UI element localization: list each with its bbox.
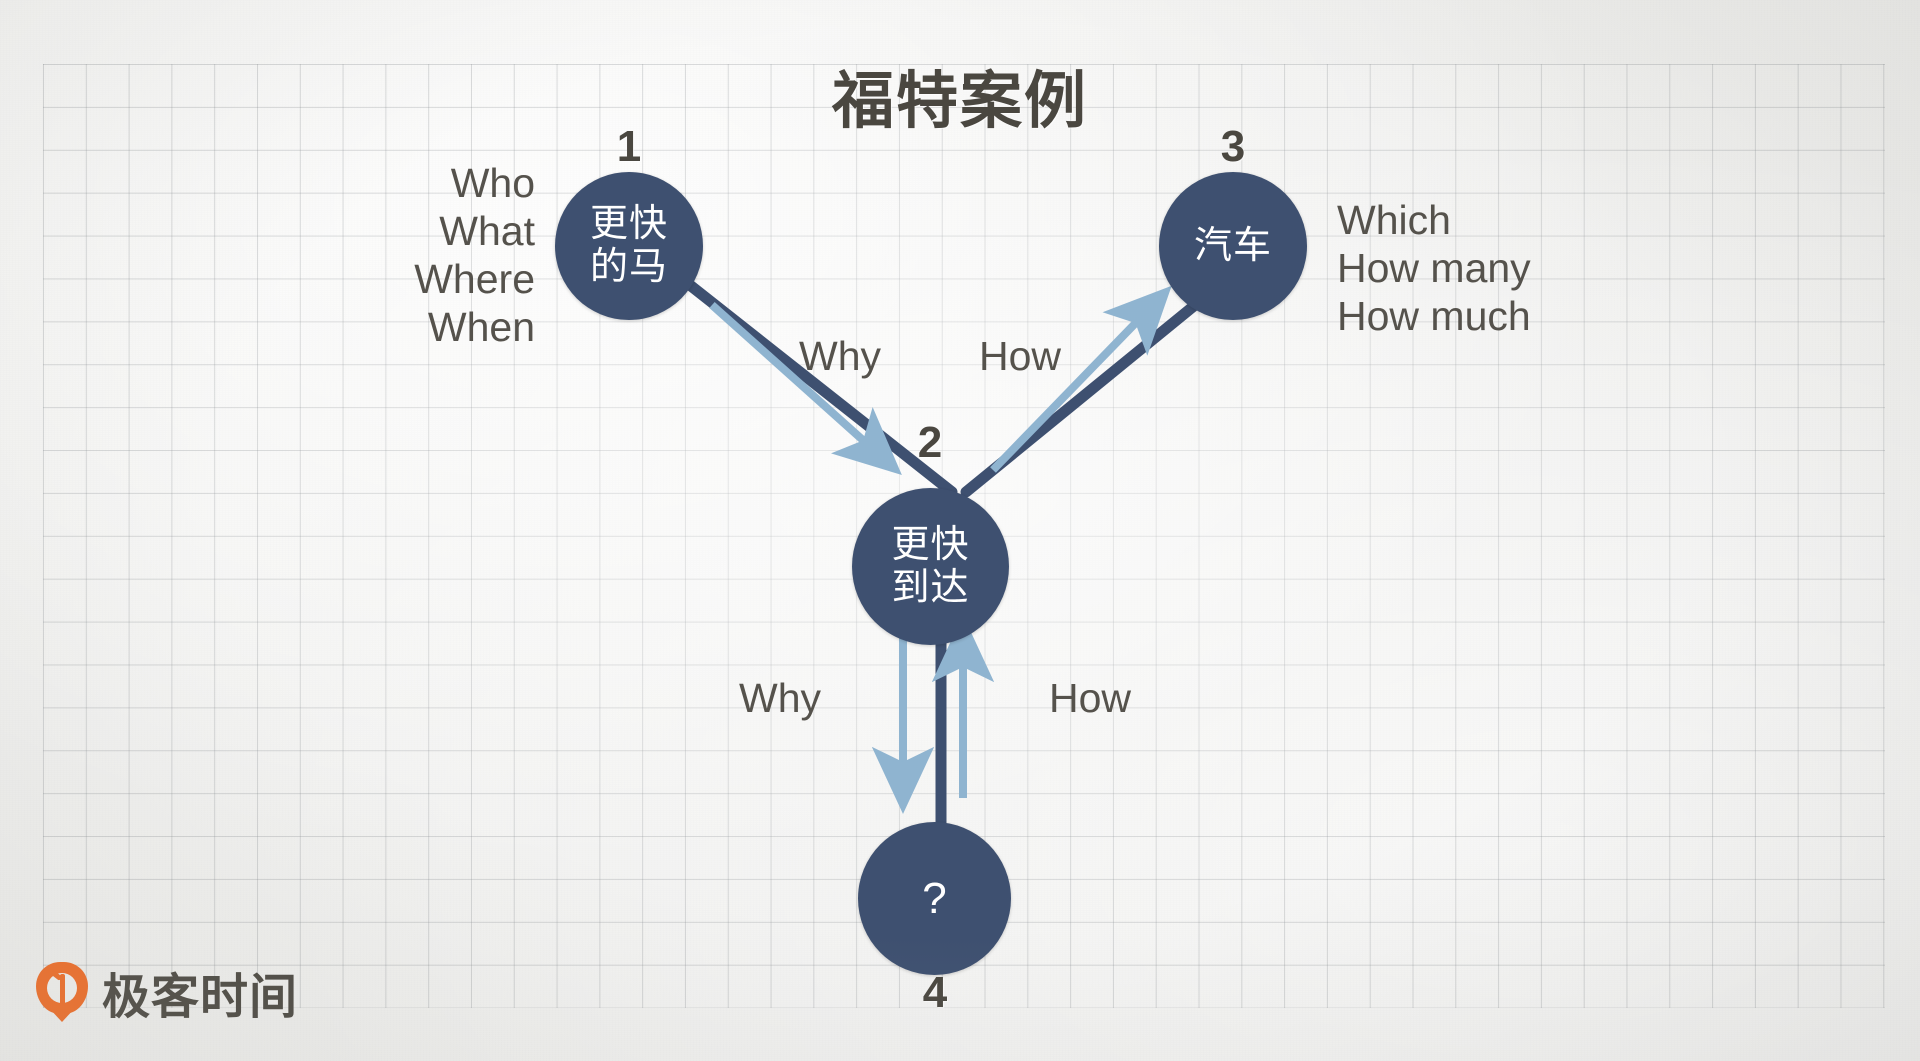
edge-label-how-top: How — [930, 333, 1110, 380]
brand-name: 极客时间 — [102, 957, 298, 1027]
geektime-drop-icon — [36, 962, 88, 1022]
left-question-words: Who What Where When — [230, 160, 535, 352]
edge-label-how-bottom: How — [1000, 675, 1180, 722]
node-1-number: 1 — [600, 122, 658, 172]
node-3[interactable]: 汽车 — [1159, 172, 1307, 320]
node-4[interactable]: ? — [858, 822, 1011, 975]
node-2[interactable]: 更快 到达 — [852, 488, 1009, 645]
node-4-label: ? — [922, 874, 946, 923]
edge-label-why-top: Why — [750, 333, 930, 380]
arrow-how-top — [993, 303, 1155, 470]
node-2-label-line2: 到达 — [891, 567, 969, 610]
node-2-number: 2 — [901, 418, 959, 468]
node-1[interactable]: 更快 的马 — [555, 172, 703, 320]
node-1-label-line2: 的马 — [590, 246, 668, 289]
arrow-why-top — [712, 305, 884, 459]
edge-label-why-bottom: Why — [690, 675, 870, 722]
node-2-label: 更快 到达 — [891, 524, 969, 609]
node-4-number: 4 — [906, 968, 964, 1018]
right-question-words: Which How many How much — [1337, 197, 1717, 341]
slide-canvas: 福特案例 更快 的马 1 更快 到达 — [0, 0, 1920, 1061]
node-1-label-line1: 更快 — [590, 203, 668, 246]
brand-logo: 极客时间 — [36, 957, 298, 1027]
node-3-label: 汽车 — [1194, 225, 1272, 268]
node-2-label-line1: 更快 — [891, 524, 969, 567]
node-3-number: 3 — [1204, 122, 1262, 172]
node-1-label: 更快 的马 — [590, 203, 668, 288]
